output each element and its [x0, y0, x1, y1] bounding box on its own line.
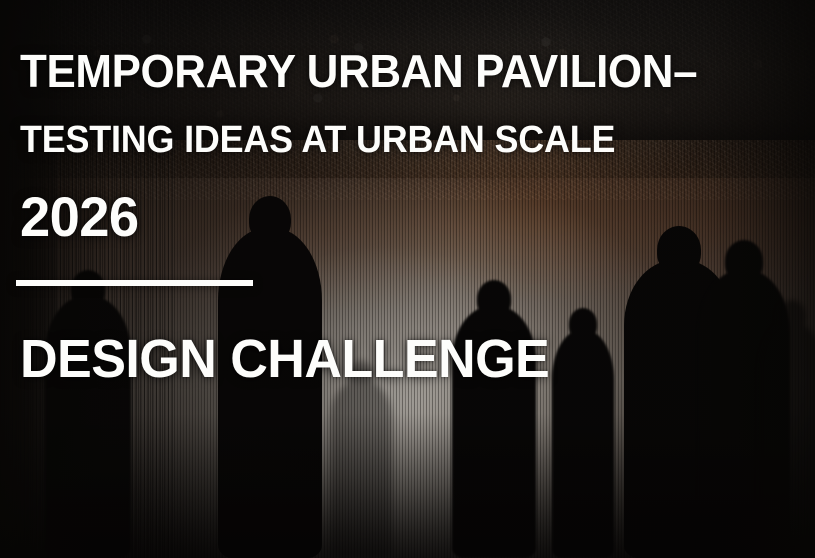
poster-headline: DESIGN CHALLENGE — [20, 332, 549, 386]
poster-divider-rule — [16, 280, 253, 286]
poster-title-subtitle: TESTING IDEAS AT URBAN SCALE — [20, 121, 615, 159]
poster-title-main: TEMPORARY URBAN PAVILION– — [20, 48, 697, 94]
poster-banner: TEMPORARY URBAN PAVILION– TESTING IDEAS … — [0, 0, 815, 558]
poster-text-block: TEMPORARY URBAN PAVILION– TESTING IDEAS … — [0, 0, 815, 558]
poster-year: 2026 — [20, 189, 139, 245]
